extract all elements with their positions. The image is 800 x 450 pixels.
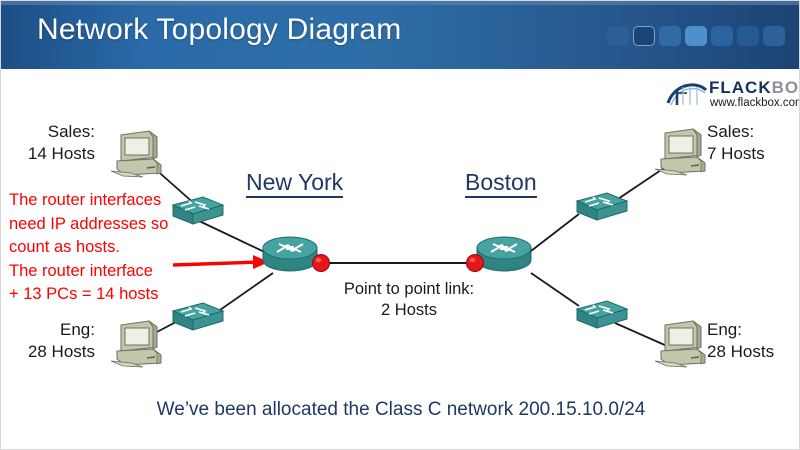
wan-link-line-1: Point to point link: xyxy=(319,279,499,300)
header-top-accent-line xyxy=(1,1,800,5)
header-square-6 xyxy=(737,26,759,46)
header-square-2 xyxy=(633,26,655,46)
logo-wordmark: FLACKBOX xyxy=(709,78,800,98)
annotation-text: The router interfaces need IP addresses … xyxy=(9,189,168,307)
flackbox-logo: FLACKBOX www.flackbox.com xyxy=(665,77,795,115)
segment-label-sales-left: Sales: 14 Hosts xyxy=(17,121,95,165)
header-square-1 xyxy=(607,26,629,46)
header-square-5 xyxy=(711,26,733,46)
header-square-7 xyxy=(763,26,785,46)
slide-canvas: Network Topology Diagram FLACKBOX ww xyxy=(0,0,800,450)
annotation-line-5: + 13 PCs = 14 hosts xyxy=(9,283,168,307)
header-square-3 xyxy=(659,26,681,46)
pc-icon-eng-left xyxy=(109,319,165,369)
segment-title: Eng: xyxy=(60,320,95,339)
page-title: Network Topology Diagram xyxy=(37,13,401,47)
switch-icon-sales-left xyxy=(165,193,225,229)
logo-word-primary: FLACK xyxy=(709,78,772,97)
pc-icon-sales-left xyxy=(109,129,165,179)
annotation-line-2: need IP addresses so xyxy=(9,213,168,237)
header-square-4 xyxy=(685,26,707,46)
switch-icon-eng-right xyxy=(569,297,629,333)
wan-link-label: Point to point link: 2 Hosts xyxy=(319,279,499,321)
switch-icon-eng-left xyxy=(165,299,225,335)
segment-title: Eng: xyxy=(707,320,742,339)
switch-icon-sales-right xyxy=(569,189,629,225)
segment-title: Sales: xyxy=(707,122,754,141)
slide-caption: We’ve been allocated the Class C network… xyxy=(1,399,800,421)
segment-label-eng-right: Eng: 28 Hosts xyxy=(707,319,793,363)
red-dot-icon-boston-interface xyxy=(465,253,485,273)
segment-hosts: 7 Hosts xyxy=(707,143,793,165)
pc-icon-eng-right xyxy=(653,319,709,369)
bridge-arch-icon xyxy=(665,79,709,107)
segment-hosts: 14 Hosts xyxy=(17,143,95,165)
red-dot-icon-new-york-interface xyxy=(311,253,331,273)
wan-link-line-2: 2 Hosts xyxy=(319,300,499,321)
annotation-line-4: The router interface xyxy=(9,260,168,284)
segment-hosts: 28 Hosts xyxy=(17,341,95,363)
pc-icon-sales-right xyxy=(653,127,709,177)
segment-title: Sales: xyxy=(48,122,95,141)
router-label-boston: Boston xyxy=(465,169,537,198)
annotation-line-3: count as hosts. xyxy=(9,236,168,260)
logo-word-secondary: BOX xyxy=(772,78,800,97)
annotation-line-1: The router interfaces xyxy=(9,189,168,213)
header-decoration-squares xyxy=(607,26,785,46)
segment-label-sales-right: Sales: 7 Hosts xyxy=(707,121,793,165)
router-label-new-york: New York xyxy=(246,169,343,198)
segment-label-eng-left: Eng: 28 Hosts xyxy=(17,319,95,363)
logo-url: www.flackbox.com xyxy=(710,97,800,109)
segment-hosts: 28 Hosts xyxy=(707,341,793,363)
red-arrow-icon xyxy=(173,255,269,269)
slide-header: Network Topology Diagram xyxy=(1,1,800,69)
